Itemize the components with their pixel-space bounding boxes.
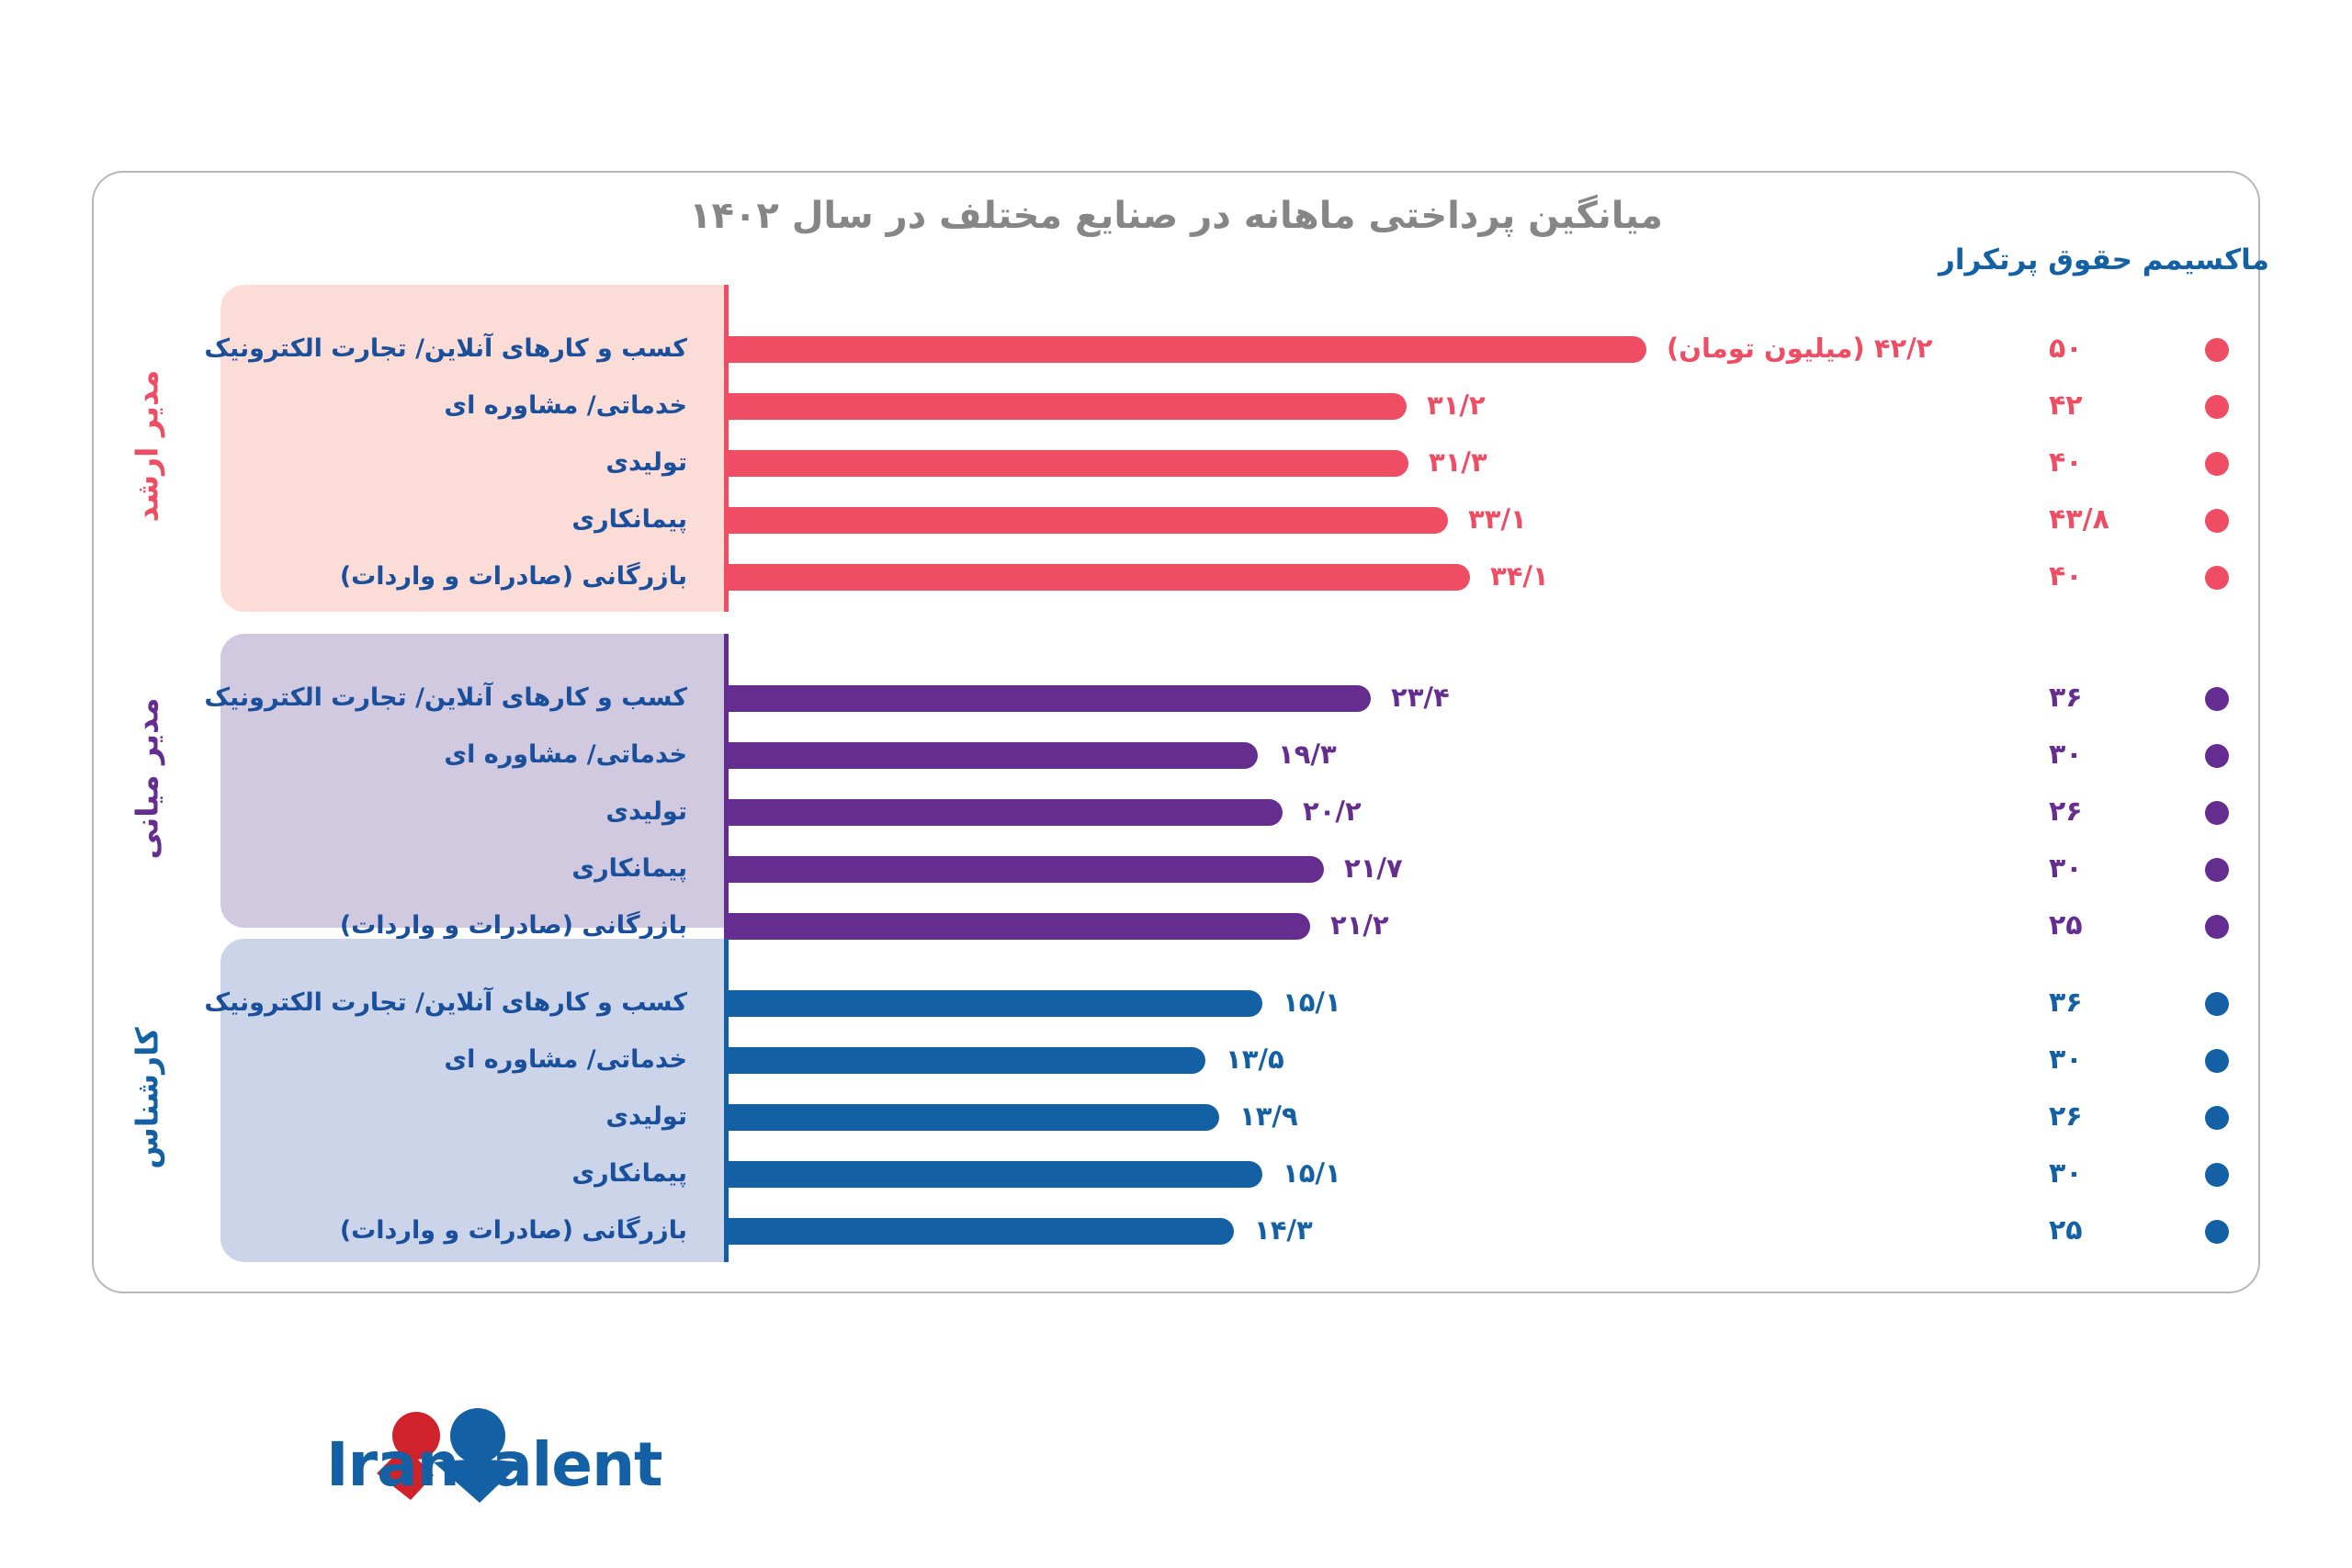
table-row: کسب و کارهای آنلاین/ تجارت الکترونیک۱۵/۱…: [0, 977, 2260, 1034]
infographic-canvas: میانگین پرداختی ماهانه در صنایع مختلف در…: [0, 0, 2352, 1568]
bar-value-label: ۱۵/۱: [1283, 1157, 1341, 1189]
table-row: تولیدی۱۳/۹۲۶: [0, 1091, 2260, 1148]
bar-value-label: ۱۳/۵: [1226, 1043, 1284, 1075]
max-salary-dot-icon: [2205, 1163, 2229, 1187]
industry-label: کسب و کارهای آنلاین/ تجارت الکترونیک: [204, 988, 687, 1017]
max-salary-dot-icon: [2205, 1049, 2229, 1073]
bar: [724, 1047, 1205, 1074]
max-salary-value: ۳۶: [2049, 987, 2187, 1019]
industry-label: تولیدی: [605, 1102, 687, 1131]
industry-label: بازرگانی (صادرات و واردات): [340, 1216, 687, 1245]
bar: [724, 1218, 1234, 1245]
table-row: بازرگانی (صادرات و واردات)۱۴/۳۲۵: [0, 1205, 2260, 1262]
table-row: پیمانکاری۱۵/۱۳۰: [0, 1148, 2260, 1205]
industry-label: پیمانکاری: [571, 1159, 687, 1188]
irantalent-logo: IranTalent: [101, 1405, 579, 1525]
max-salary-value: ۳۰: [2049, 1043, 2187, 1076]
table-row: خدماتی/ مشاوره ای۱۳/۵۳۰: [0, 1034, 2260, 1091]
max-salary-dot-icon: [2205, 1220, 2229, 1244]
bar-value-label: ۱۴/۳: [1254, 1214, 1313, 1246]
chart-group-2: کارشناسکسب و کارهای آنلاین/ تجارت الکترو…: [0, 0, 2260, 1568]
bar-value-label: ۱۵/۱: [1283, 987, 1341, 1018]
bar-value-label: ۱۳/۹: [1239, 1100, 1298, 1132]
max-salary-value: ۲۵: [2049, 1214, 2187, 1247]
bar: [724, 1104, 1219, 1131]
max-salary-dot-icon: [2205, 1106, 2229, 1130]
logo-wordmark: IranTalent: [326, 1429, 662, 1500]
bar: [724, 1161, 1262, 1188]
max-salary-value: ۲۶: [2049, 1100, 2187, 1133]
bar: [724, 990, 1262, 1017]
max-salary-value: ۳۰: [2049, 1157, 2187, 1190]
max-salary-dot-icon: [2205, 992, 2229, 1016]
industry-label: خدماتی/ مشاوره ای: [444, 1045, 687, 1074]
